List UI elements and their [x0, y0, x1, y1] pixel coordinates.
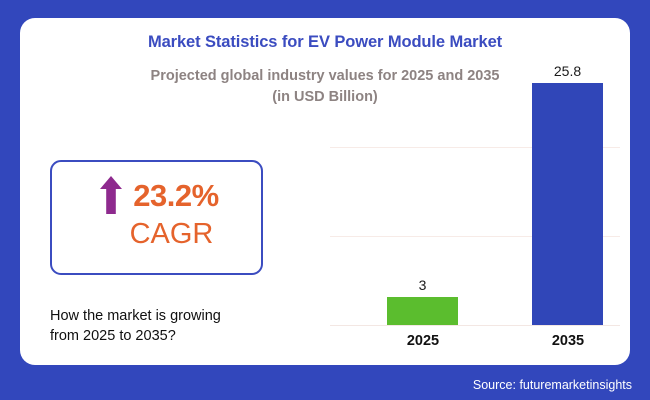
cagr-value: 23.2%: [133, 180, 218, 211]
up-arrow-icon: [98, 174, 124, 216]
cagr-callout-box: 23.2% CAGR: [50, 160, 263, 275]
chart-baseline: [330, 325, 620, 326]
content-card: Market Statistics for EV Power Module Ma…: [20, 18, 630, 365]
cagr-caption-line-1: How the market is growing: [50, 306, 300, 326]
cagr-caption-line-2: from 2025 to 2035?: [50, 326, 300, 346]
bar-category-label: 2035: [523, 333, 613, 349]
cagr-caption: How the market is growing from 2025 to 2…: [50, 306, 300, 346]
bar-value-label: 3: [387, 277, 458, 293]
source-attribution: Source: futuremarketinsights: [473, 378, 632, 392]
bar-category-label: 2025: [378, 333, 468, 349]
cagr-value-row: 23.2%: [52, 174, 265, 216]
bar-rect: [532, 83, 603, 325]
cagr-label: CAGR: [52, 219, 265, 251]
bar-rect: [387, 297, 458, 325]
bar-value-label: 25.8: [532, 63, 603, 79]
infographic-root: Market Statistics for EV Power Module Ma…: [0, 0, 650, 400]
bar-chart: 3 2025 25.8 2035: [330, 18, 630, 365]
